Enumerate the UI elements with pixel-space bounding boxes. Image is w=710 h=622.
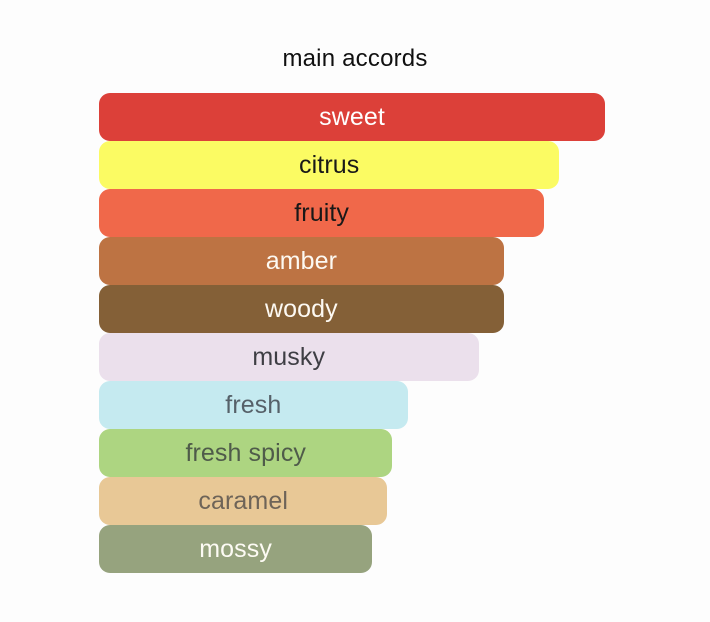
bar-caramel[interactable]: caramel (99, 477, 387, 525)
bar-woody[interactable]: woody (99, 285, 504, 333)
bar-row: fresh spicy (99, 429, 605, 477)
bar-label: citrus (299, 151, 359, 179)
bar-row: woody (99, 285, 605, 333)
bar-musky[interactable]: musky (99, 333, 479, 381)
bar-label: mossy (199, 535, 272, 563)
bar-row: fruity (99, 189, 605, 237)
bar-label: fruity (294, 199, 349, 227)
bar-row: sweet (99, 93, 605, 141)
bar-list: sweetcitrusfruityamberwoodymuskyfreshfre… (99, 93, 605, 573)
main-accords-chart: main accords sweetcitrusfruityamberwoody… (0, 0, 710, 622)
bar-mossy[interactable]: mossy (99, 525, 372, 573)
bar-label: woody (265, 295, 338, 323)
bar-amber[interactable]: amber (99, 237, 504, 285)
bar-row: mossy (99, 525, 605, 573)
bar-label: fresh (225, 391, 281, 419)
bar-label: fresh spicy (185, 439, 306, 467)
bar-row: citrus (99, 141, 605, 189)
bar-citrus[interactable]: citrus (99, 141, 559, 189)
bar-fruity[interactable]: fruity (99, 189, 544, 237)
bar-fresh-spicy[interactable]: fresh spicy (99, 429, 392, 477)
bar-row: caramel (99, 477, 605, 525)
bar-sweet[interactable]: sweet (99, 93, 605, 141)
bar-label: musky (252, 343, 325, 371)
bar-row: musky (99, 333, 605, 381)
bar-row: fresh (99, 381, 605, 429)
bar-label: sweet (319, 103, 385, 131)
bar-label: amber (266, 247, 337, 275)
bar-fresh[interactable]: fresh (99, 381, 408, 429)
bar-row: amber (99, 237, 605, 285)
chart-title: main accords (0, 44, 710, 74)
bar-label: caramel (198, 487, 288, 515)
